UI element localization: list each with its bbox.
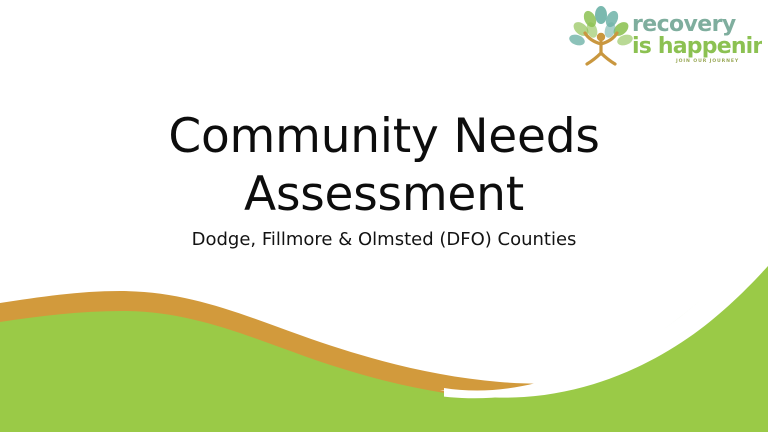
page-title-line-1: Community Needs — [168, 109, 599, 164]
white-dip-shape — [440, 244, 768, 398]
green-wave-shape — [0, 311, 768, 432]
logo-wordmark: recovery is happening JOIN OUR JOURNEY — [632, 10, 762, 68]
gold-wave-shape — [0, 291, 768, 432]
person-figure-icon — [585, 33, 617, 64]
logo-tagline: JOIN OUR JOURNEY — [675, 58, 739, 64]
recovery-is-happening-logo: recovery is happening JOIN OUR JOURNEY — [564, 4, 764, 74]
page-title-line-2: Assessment — [244, 167, 524, 222]
slide-canvas: recovery is happening JOIN OUR JOURNEY C… — [0, 0, 768, 432]
green-right-wedge-shape — [410, 246, 768, 432]
page-title: Community NeedsAssessment — [84, 108, 684, 224]
logo-word-is-happening: is happening — [632, 34, 762, 59]
tree-person-icon — [568, 6, 634, 70]
white-arc-shape — [444, 248, 768, 432]
page-subtitle: Dodge, Fillmore & Olmsted (DFO) Counties — [84, 228, 684, 252]
